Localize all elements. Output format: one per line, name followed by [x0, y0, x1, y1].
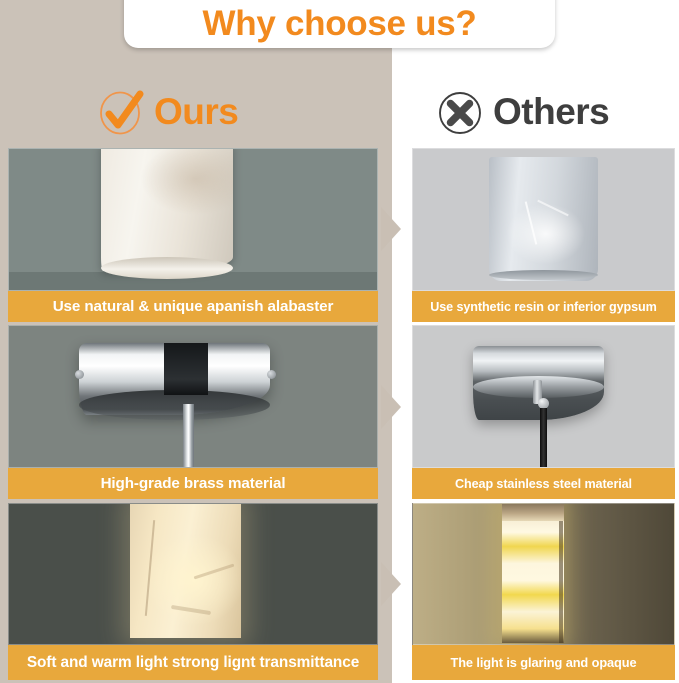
chevron-right-icon: [381, 207, 401, 251]
ours-cell: Use natural & unique apanish alabaster: [8, 148, 378, 322]
others-header: Others: [437, 84, 609, 140]
brass-canopy-photo: [8, 325, 378, 468]
ours-caption: High-grade brass material: [8, 468, 378, 499]
others-cell: Cheap stainless steel material: [412, 325, 675, 499]
ours-label: Ours: [154, 92, 238, 132]
column-headers: Ours Others: [0, 82, 679, 144]
others-cell: Use synthetic resin or inferior gypsum: [412, 148, 675, 322]
others-caption: Use synthetic resin or inferior gypsum: [412, 291, 675, 322]
alabaster-cylinder-shade-photo: [8, 148, 378, 291]
ours-cell: Soft and warm light strong lignt transmi…: [8, 503, 378, 680]
others-caption: The light is glaring and opaque: [412, 645, 675, 680]
ours-caption: Use natural & unique apanish alabaster: [8, 291, 378, 322]
ours-cell: High-grade brass material: [8, 325, 378, 499]
synthetic-resin-cylinder-photo: [412, 148, 675, 291]
glaring-yellow-column-photo: [412, 503, 675, 645]
title-card: Why choose us?: [124, 0, 555, 48]
others-cell: The light is glaring and opaque: [412, 503, 675, 680]
page-title: Why choose us?: [203, 4, 477, 44]
comparison-infographic: Why choose us? Ours Others: [0, 0, 679, 683]
comparison-row: Use natural & unique apanish alabaster U…: [0, 148, 679, 323]
chevron-right-icon: [381, 385, 401, 429]
x-circle-icon: [437, 89, 484, 136]
warm-glow-alabaster-photo: [8, 503, 378, 645]
ours-caption: Soft and warm light strong lignt transmi…: [8, 645, 378, 680]
check-circle-icon: [98, 89, 145, 136]
chevron-right-icon: [381, 562, 401, 606]
stainless-steel-canopy-photo: [412, 325, 675, 468]
comparison-row: High-grade brass material Cheap stainles…: [0, 325, 679, 501]
others-caption: Cheap stainless steel material: [412, 468, 675, 499]
comparison-row: Soft and warm light strong lignt transmi…: [0, 503, 679, 683]
ours-header: Ours: [98, 84, 238, 140]
others-label: Others: [493, 92, 609, 132]
